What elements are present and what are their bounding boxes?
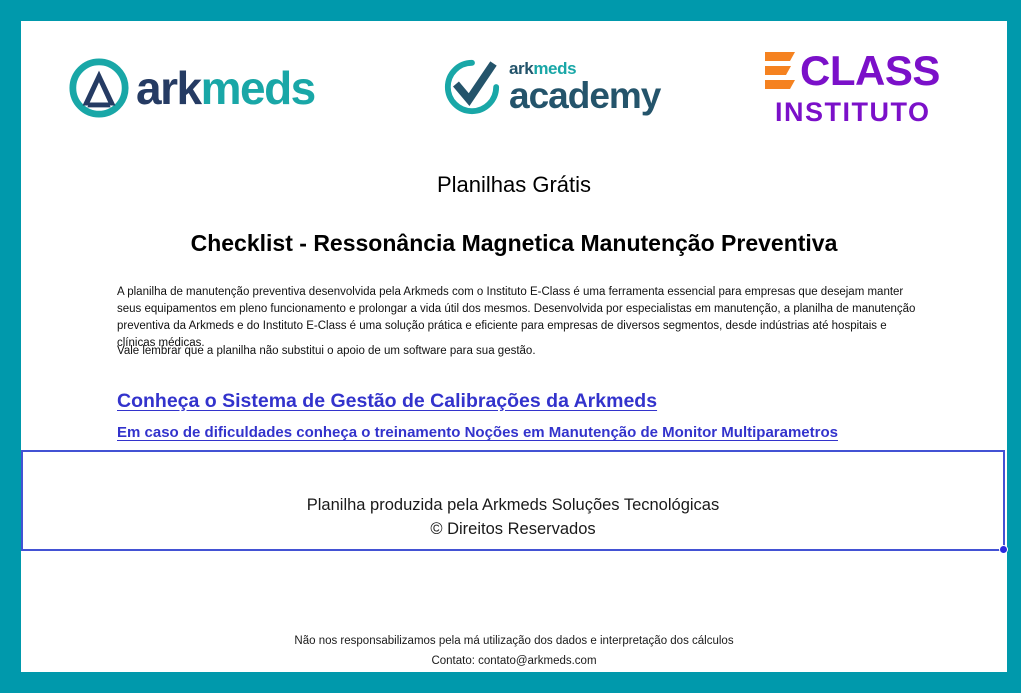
footer-disclaimer: Não nos responsabilizamos pela má utiliz… <box>21 631 1007 651</box>
logo-row: arkmeds arkmeds academy <box>21 21 1007 146</box>
academy-word-academy: academy <box>509 78 660 113</box>
eclass-word-instituto: INSTITUTO <box>775 99 927 126</box>
arkmeds-logomark-icon <box>68 57 130 119</box>
note-paragraph: Vale lembrar que a planilha não substitu… <box>117 343 927 360</box>
spreadsheet-canvas: arkmeds arkmeds academy <box>0 0 1021 693</box>
sheet-page: arkmeds arkmeds academy <box>21 21 1007 672</box>
produced-by-block: Planilha produzida pela Arkmeds Soluções… <box>21 493 1005 541</box>
link-calibration-system[interactable]: Conheça o Sistema de Gestão de Calibraçõ… <box>117 390 657 413</box>
eclass-instituto-logo: CLASS INSTITUTO <box>761 49 940 126</box>
check-circle-icon <box>443 58 501 116</box>
link-training-course[interactable]: Em caso de dificuldades conheça o treina… <box>117 424 838 441</box>
free-spreadsheets-label: Planilhas Grátis <box>21 172 1007 198</box>
copyright-line: © Direitos Reservados <box>21 517 1005 541</box>
footer-block: Não nos responsabilizamos pela má utiliz… <box>21 631 1007 671</box>
selection-fill-handle[interactable] <box>999 545 1008 554</box>
eclass-word-class: CLASS <box>800 50 940 92</box>
arkmeds-logo: arkmeds <box>68 57 315 119</box>
arkmeds-wordmark: arkmeds <box>136 65 315 111</box>
arkmeds-academy-logo: arkmeds academy <box>443 58 660 116</box>
page-title: Checklist - Ressonância Magnetica Manute… <box>21 230 1007 257</box>
academy-wordmark: arkmeds academy <box>509 60 660 113</box>
footer-contact: Contato: contato@arkmeds.com <box>21 651 1007 671</box>
arkmeds-word-meds: meds <box>201 62 315 114</box>
intro-paragraph: A planilha de manutenção preventiva dese… <box>117 284 927 352</box>
arkmeds-word-ark: ark <box>136 62 201 114</box>
eclass-e-icon <box>761 49 797 93</box>
produced-by-line1: Planilha produzida pela Arkmeds Soluções… <box>21 493 1005 517</box>
